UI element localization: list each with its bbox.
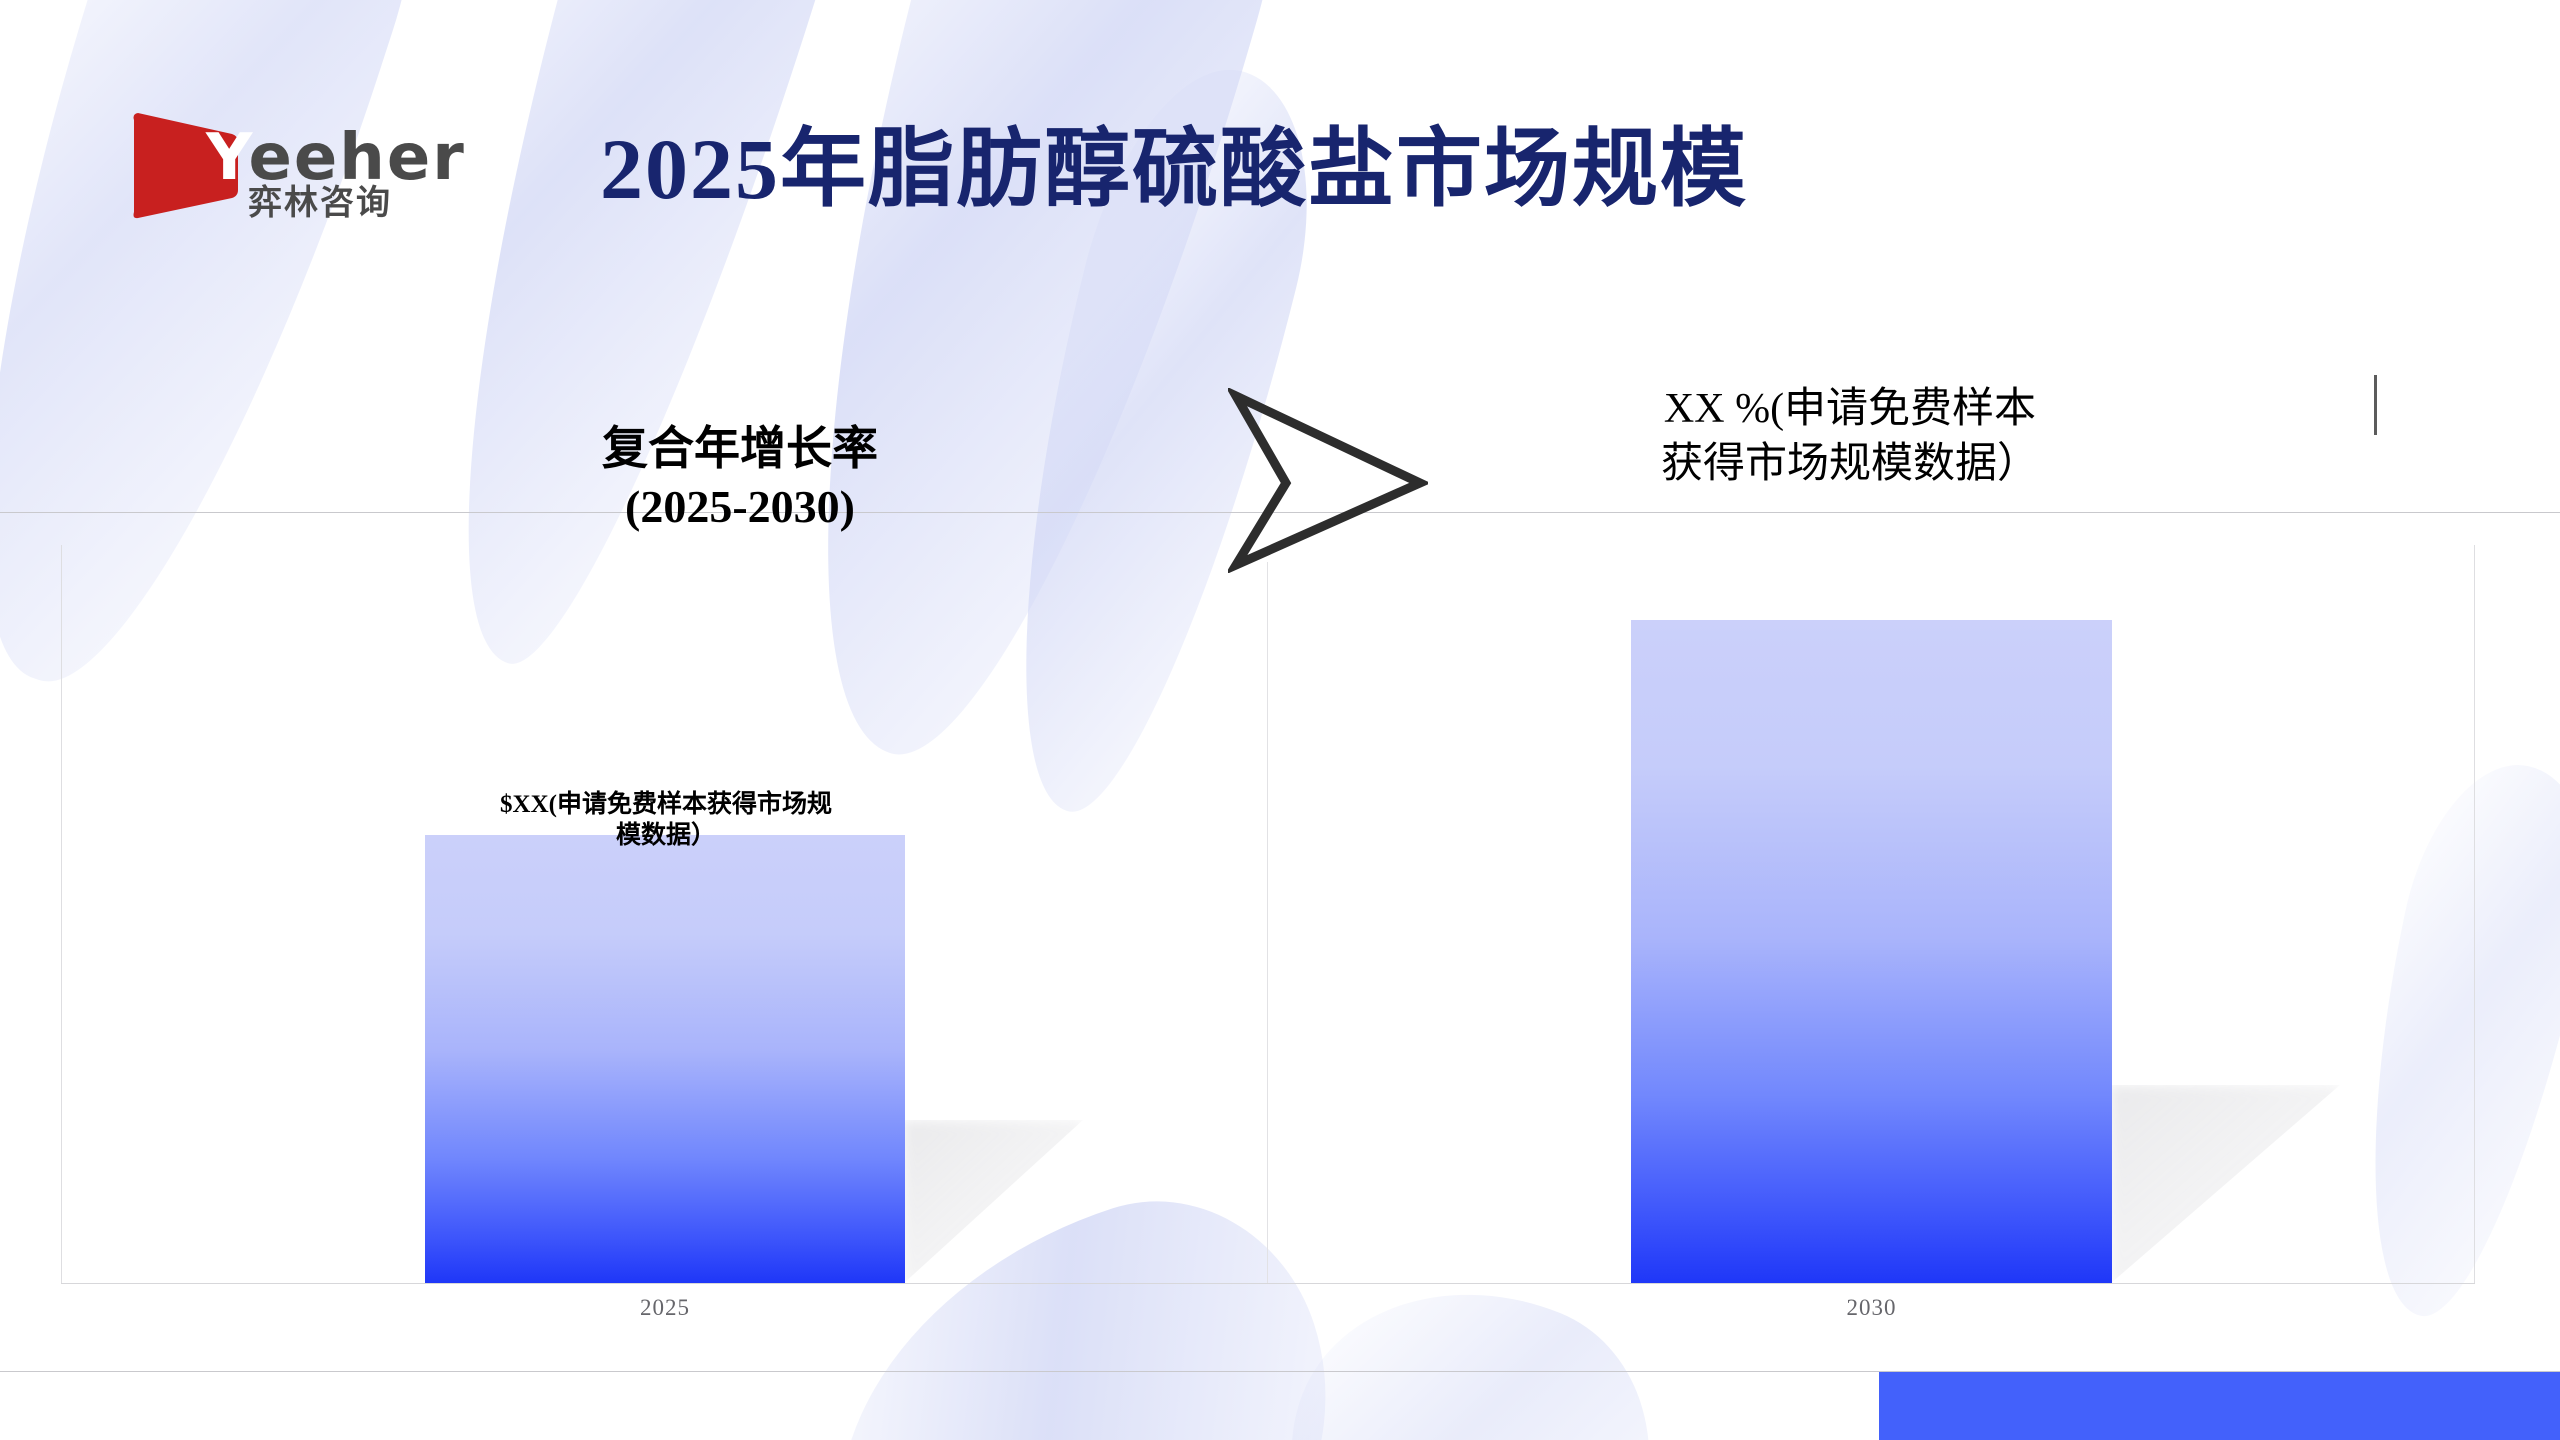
slide-canvas: Yeeher 弈林咨询 2025年脂肪醇硫酸盐市场规模 复合年增长率 (2025… [0, 0, 2560, 1440]
bar-value-label-2025: $XX(申请免费样本获得市场规 模数据） [420, 790, 912, 851]
bar-value-label-2025-line1: $XX(申请免费样本获得市场规 [420, 790, 912, 821]
page-title: 2025年脂肪醇硫酸盐市场规模 [600, 120, 1748, 219]
category-label-2030: 2030 [1631, 1295, 2112, 1321]
bar-value-label-2025-line2: 模数据） [420, 821, 912, 852]
cagr-value: XX %(申请免费样本 获得市场规模数据） [1590, 382, 2110, 491]
cagr-label-line2: (2025-2030) [520, 478, 960, 536]
cagr-label: 复合年增长率 (2025-2030) [520, 420, 960, 535]
logo-letter-y: Y [206, 121, 248, 195]
category-label-2025: 2025 [425, 1295, 905, 1321]
logo-wordmark: Yeeher [206, 126, 466, 190]
cagr-value-line1: XX %(申请免费样本 [1590, 382, 2110, 437]
brand-logo: Yeeher 弈林咨询 [128, 108, 468, 223]
right-divider-tick [2374, 375, 2377, 435]
bar-2025[interactable] [425, 835, 905, 1283]
cagr-label-line1: 复合年增长率 [520, 420, 960, 478]
chart-center-divider [1267, 562, 1268, 1283]
logo-subtitle: 弈林咨询 [248, 186, 392, 220]
chart-axis-baseline [61, 1283, 2475, 1284]
footer-accent-bar [1879, 1372, 2560, 1440]
cagr-value-line2: 获得市场规模数据） [1590, 437, 2110, 492]
bar-2030[interactable] [1631, 620, 2112, 1283]
